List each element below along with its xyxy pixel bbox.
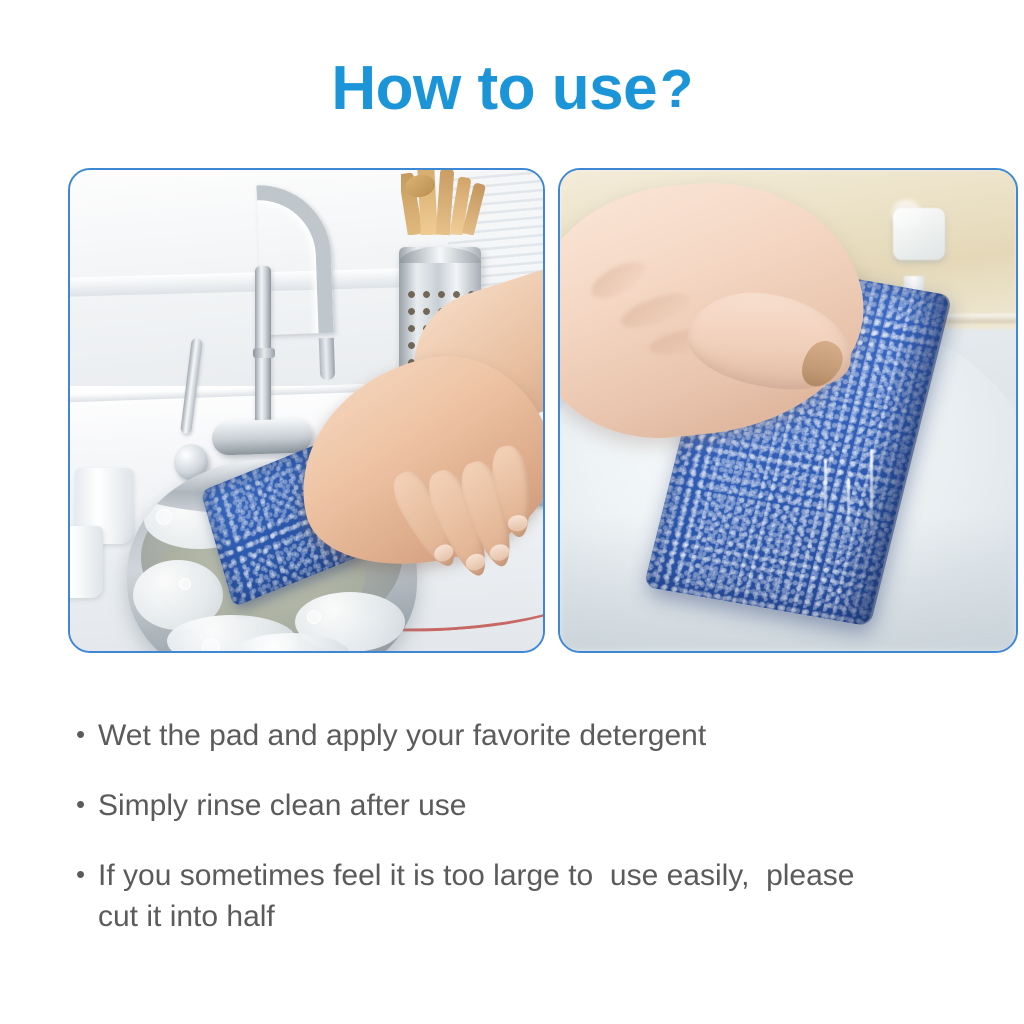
white-cup xyxy=(68,526,103,598)
foam-bubble xyxy=(156,509,172,525)
list-item-label: Wet the pad and apply your favorite dete… xyxy=(98,716,1000,756)
water-drip xyxy=(847,478,850,534)
bullet-dot-icon: • xyxy=(76,786,98,823)
water-drip xyxy=(870,449,873,533)
fingernail xyxy=(506,514,528,533)
instructions-list: • Wet the pad and apply your favorite de… xyxy=(76,716,1000,937)
washing-pot-scene xyxy=(70,170,543,651)
rinsing-pad-scene xyxy=(560,170,1016,651)
foam-bubble xyxy=(307,610,321,624)
list-item: • Wet the pad and apply your favorite de… xyxy=(76,716,1000,756)
faucet-ring xyxy=(253,348,275,358)
washing-pot-photo xyxy=(68,168,545,653)
bullet-dot-icon: • xyxy=(76,716,98,753)
list-item: • Simply rinse clean after use xyxy=(76,786,1000,826)
list-item-label: If you sometimes feel it is too large to… xyxy=(98,856,1000,936)
knuckle-crease xyxy=(616,287,694,335)
page-title-question-mark: ? xyxy=(660,59,693,119)
list-item-label: Simply rinse clean after use xyxy=(98,786,1000,826)
faucet-body xyxy=(211,418,312,455)
list-item: • If you sometimes feel it is too large … xyxy=(76,856,1000,936)
wooden-utensils xyxy=(401,168,489,235)
rinsing-pad-photo xyxy=(558,168,1018,653)
knuckle-crease xyxy=(586,255,651,306)
foam-bubble xyxy=(202,638,220,653)
bullet-dot-icon: • xyxy=(76,856,98,893)
drain-fitting xyxy=(893,208,945,260)
page-title: How to use? xyxy=(0,58,1024,120)
utensil-holder-rim xyxy=(399,247,481,263)
page-title-text: How to use xyxy=(331,54,657,123)
